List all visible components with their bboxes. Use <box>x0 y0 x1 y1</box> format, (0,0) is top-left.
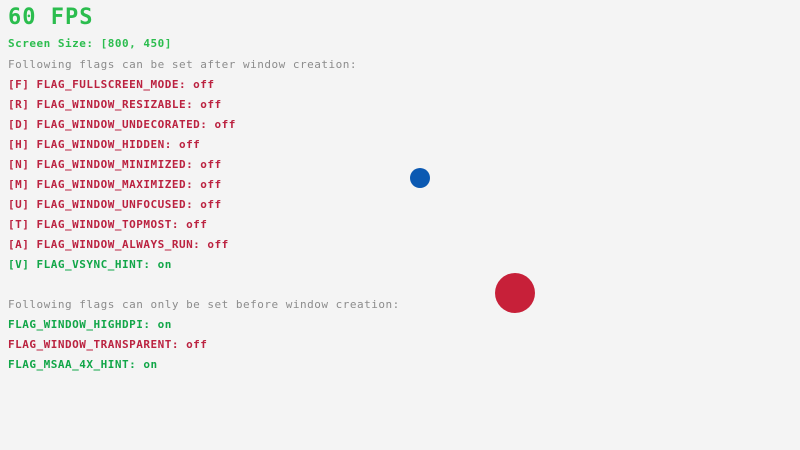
flag-toggle-flag-window-always-run[interactable]: [A] FLAG_WINDOW_ALWAYS_RUN: off <box>8 239 229 250</box>
blue-ball[interactable] <box>410 168 430 188</box>
flag-toggle-flag-fullscreen-mode[interactable]: [F] FLAG_FULLSCREEN_MODE: off <box>8 79 215 90</box>
flag-status-flag-window-transparent: FLAG_WINDOW_TRANSPARENT: off <box>8 339 207 350</box>
startup-flags-note: Following flags can only be set before w… <box>8 299 400 310</box>
red-ball <box>495 273 535 313</box>
flag-toggle-flag-window-hidden[interactable]: [H] FLAG_WINDOW_HIDDEN: off <box>8 139 200 150</box>
flag-toggle-flag-window-resizable[interactable]: [R] FLAG_WINDOW_RESIZABLE: off <box>8 99 222 110</box>
flag-toggle-flag-window-unfocused[interactable]: [U] FLAG_WINDOW_UNFOCUSED: off <box>8 199 222 210</box>
flag-status-flag-window-highdpi: FLAG_WINDOW_HIGHDPI: on <box>8 319 172 330</box>
flag-toggle-flag-window-undecorated[interactable]: [D] FLAG_WINDOW_UNDECORATED: off <box>8 119 236 130</box>
flag-toggle-flag-window-topmost[interactable]: [T] FLAG_WINDOW_TOPMOST: off <box>8 219 207 230</box>
runtime-flags-note: Following flags can be set after window … <box>8 59 357 70</box>
flag-toggle-flag-window-maximized[interactable]: [M] FLAG_WINDOW_MAXIMIZED: off <box>8 179 222 190</box>
flag-toggle-flag-vsync-hint[interactable]: [V] FLAG_VSYNC_HINT: on <box>8 259 172 270</box>
flag-status-flag-msaa-4x-hint: FLAG_MSAA_4X_HINT: on <box>8 359 158 370</box>
flag-toggle-flag-window-minimized[interactable]: [N] FLAG_WINDOW_MINIMIZED: off <box>8 159 222 170</box>
screen-size-label: Screen Size: [800, 450] <box>8 38 172 49</box>
raylib-window-canvas[interactable]: 60 FPS Screen Size: [800, 450] Following… <box>0 0 800 450</box>
fps-counter: 60 FPS <box>8 7 93 29</box>
